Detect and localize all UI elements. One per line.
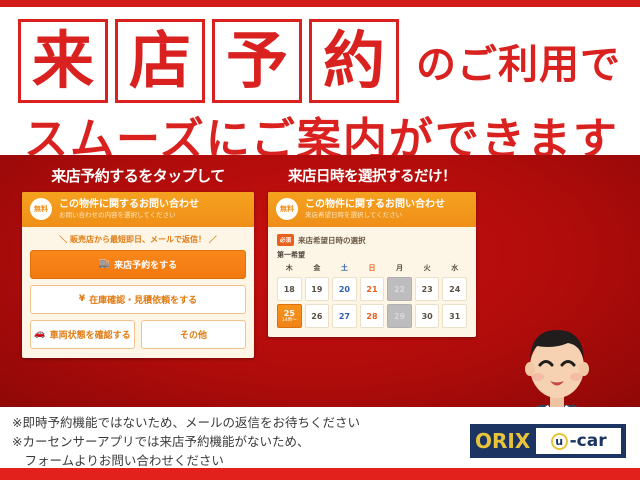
calendar-day-cell[interactable]: 31 [442,304,467,328]
calendar-field-label: 来店希望日時の選択 [298,235,366,246]
inquiry-note: ＼ 販売店から最短即日、メールで返信！ ／ [22,227,254,250]
panel-right: 来店日時を選択するだけ！ 無料 この物件に関するお問い合わせ 来店希望日時を選択… [268,165,476,337]
calendar-day-number: 26 [311,312,322,321]
headline-kanji-box-3: 予 [212,19,302,103]
top-accent-bar [0,0,640,7]
calendar-day-cell[interactable]: 23 [415,277,440,301]
stock-quote-label: 在庫確認・見積依頼をする [89,293,197,306]
bottom-accent-bar [0,468,640,480]
calendar-card: 無料 この物件に関するお問い合わせ 来店希望日時を選択してください 必須 来店希… [268,192,476,337]
other-button[interactable]: その他 [141,320,246,349]
vehicle-condition-button[interactable]: 🚗 車両状態を確認する [30,320,135,349]
promo-banner: 来 店 予 約 のご利用で スムーズにご案内ができます 来店予約するをタップして… [0,0,640,480]
feature-section: 来店予約するをタップして 無料 この物件に関するお問い合わせ お問い合わせの内容… [0,155,640,407]
panel-right-title: 来店日時を選択するだけ！ [268,165,476,186]
stock-quote-button[interactable]: ¥ 在庫確認・見積依頼をする [30,285,246,314]
orix-ucar-logo: ORIX u -car [470,424,626,458]
headline-tail-text: のご利用で [416,32,621,90]
calendar-field-label-row: 必須 来店希望日時の選択 [277,234,467,246]
calendar-day-cell[interactable]: 20 [332,277,357,301]
required-tag: 必須 [277,234,294,246]
calendar-weekday-header: 日 [360,263,385,274]
ucar-wordmark: -car [570,431,607,451]
free-badge: 無料 [30,198,52,220]
headline-kanji-box-2: 店 [115,19,205,103]
calendar-card-header: 無料 この物件に関するお問い合わせ 来店希望日時を選択してください [268,192,476,227]
inquiry-button-row: 🚗 車両状態を確認する その他 [30,320,246,349]
inquiry-header-text: この物件に関するお問い合わせ お問い合わせの内容を選択してください [59,199,199,220]
calendar-day-cell[interactable]: 26 [305,304,330,328]
inquiry-header-subtitle: お問い合わせの内容を選択してください [59,211,199,219]
calendar-day-cell: 22 [387,277,412,301]
calendar-weekday-header: 月 [387,263,412,274]
calendar-day-number: 20 [339,285,350,294]
headline-kanji-box-1: 来 [18,19,108,103]
store-icon: 🏬 [99,260,110,269]
calendar-day-cell[interactable]: 30 [415,304,440,328]
u-circle-icon: u [551,433,568,450]
calendar-day-number: 24 [449,285,460,294]
car-icon: 🚗 [34,330,45,339]
calendar-preference-label: 第一希望 [277,250,467,260]
vehicle-condition-label: 車両状態を確認する [50,328,131,341]
calendar-day-number: 27 [339,312,350,321]
calendar-day-number: 21 [366,285,377,294]
calendar-weekday-header: 土 [332,263,357,274]
calendar-day-number: 19 [311,285,322,294]
calendar-grid: 木金土日月火水181920212223242514時～262728293031 [277,263,467,328]
panel-left-title: 来店予約するをタップして [22,165,254,186]
calendar-day-cell[interactable]: 28 [360,304,385,328]
calendar-day-number: 22 [394,285,405,294]
calendar-day-cell[interactable]: 18 [277,277,302,301]
calendar-weekday-header: 水 [442,263,467,274]
yen-icon: ¥ [79,295,85,304]
calendar-body: 必須 来店希望日時の選択 第一希望 木金土日月火水181920212223242… [268,227,476,337]
reserve-visit-label: 来店予約をする [114,258,177,271]
calendar-day-cell[interactable]: 2514時～ [277,304,302,328]
calendar-day-number: 23 [422,285,433,294]
orix-wordmark: ORIX [475,429,536,453]
calendar-weekday-header: 火 [415,263,440,274]
calendar-day-cell[interactable]: 27 [332,304,357,328]
reserve-visit-button[interactable]: 🏬 来店予約をする [30,250,246,279]
calendar-day-cell[interactable]: 19 [305,277,330,301]
calendar-header-text: この物件に関するお問い合わせ 来店希望日時を選択してください [305,199,445,220]
calendar-day-number: 29 [394,312,405,321]
calendar-weekday-header: 木 [277,263,302,274]
calendar-header-subtitle: 来店希望日時を選択してください [305,211,445,219]
free-badge: 無料 [276,198,298,220]
calendar-day-number: 30 [422,312,433,321]
inquiry-card-header: 無料 この物件に関するお問い合わせ お問い合わせの内容を選択してください [22,192,254,227]
calendar-day-cell: 29 [387,304,412,328]
calendar-header-title: この物件に関するお問い合わせ [305,199,445,211]
calendar-day-cell[interactable]: 24 [442,277,467,301]
headline-kanji-box-4: 約 [309,19,399,103]
panel-left: 来店予約するをタップして 無料 この物件に関するお問い合わせ お問い合わせの内容… [22,165,254,358]
headline-row-1: 来 店 予 約 のご利用で [18,19,621,103]
calendar-day-number: 31 [449,312,460,321]
calendar-weekday-header: 金 [305,263,330,274]
inquiry-header-title: この物件に関するお問い合わせ [59,199,199,211]
calendar-day-time: 14時～ [282,319,297,324]
headline-section: 来 店 予 約 のご利用で スムーズにご案内ができます [0,7,640,155]
calendar-day-number: 28 [366,312,377,321]
footer-notes: ※即時予約機能ではないため、メールの返信をお待ちください ※カーセンサーアプリで… [12,414,360,470]
calendar-day-number: 18 [284,285,295,294]
calendar-day-cell[interactable]: 21 [360,277,385,301]
inquiry-button-group: 🏬 来店予約をする ¥ 在庫確認・見積依頼をする 🚗 車両状態を確認する [22,250,254,358]
calendar-day-number: 25 [284,309,295,318]
ucar-badge: u -car [536,428,621,454]
inquiry-card: 無料 この物件に関するお問い合わせ お問い合わせの内容を選択してください ＼ 販… [22,192,254,358]
other-label: その他 [180,328,207,341]
